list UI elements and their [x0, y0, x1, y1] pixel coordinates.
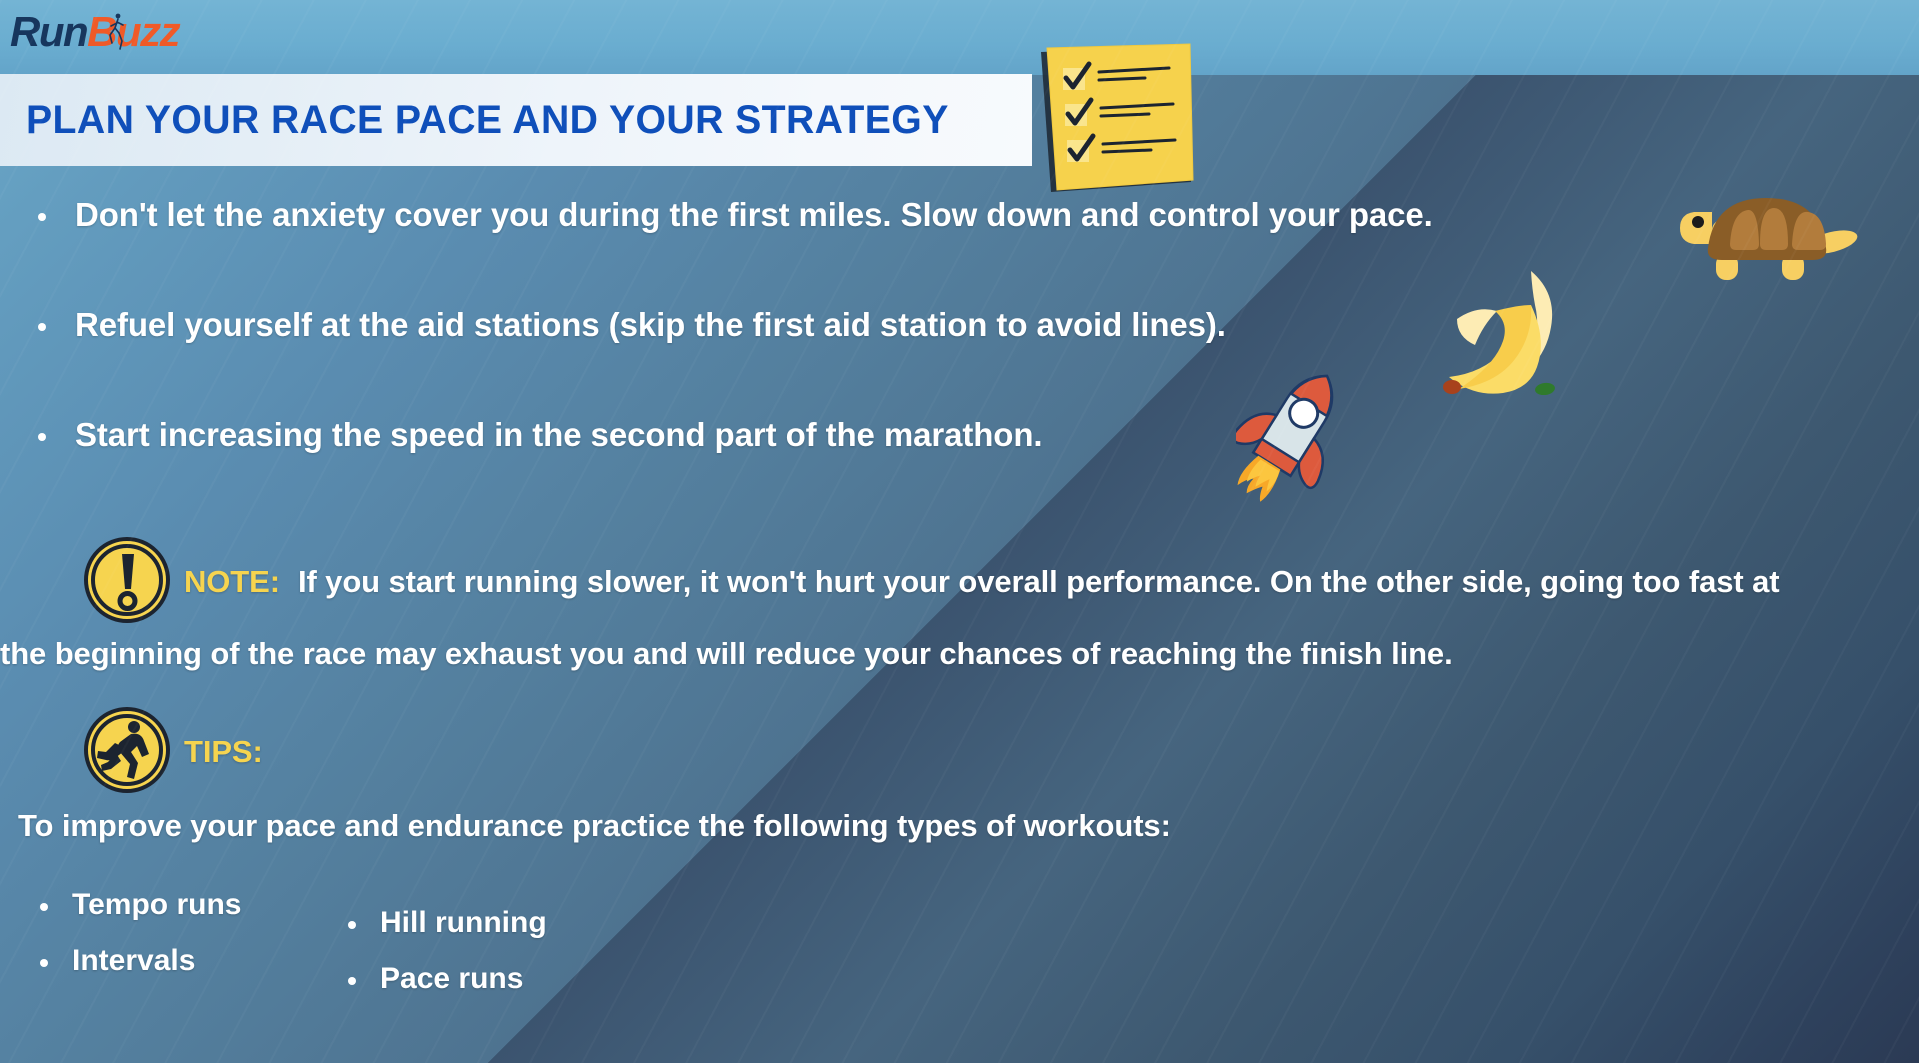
exclamation-circle-icon [84, 537, 170, 623]
page-title-bar: PLAN YOUR RACE PACE AND YOUR STRATEGY [0, 74, 1032, 166]
slide-body: Don't let the anxiety cover you during t… [0, 166, 1919, 1063]
list-item: Tempo runs [0, 888, 320, 922]
tips-label: TIPS: [184, 734, 263, 769]
turtle-icon [1672, 170, 1862, 290]
note-label: NOTE: [184, 564, 280, 599]
list-item: Hill running [320, 906, 720, 940]
workout-column-2: Hill running Pace runs [320, 888, 720, 1018]
header-band: RunBuzz [0, 0, 1919, 75]
runner-mark-icon [106, 10, 128, 54]
runner-circle-icon [84, 707, 170, 793]
list-item: Don't let the anxiety cover you during t… [0, 196, 1750, 234]
list-item: Pace runs [320, 962, 720, 996]
workout-columns: Tempo runs Intervals Hill running Pace r… [0, 888, 900, 1018]
brand-logo-buzz: Buzz [87, 8, 179, 56]
brand-logo[interactable]: RunBuzz [10, 4, 179, 60]
list-item: Start increasing the speed in the second… [0, 416, 1750, 454]
tips-block: TIPS: To improve your pace and endurance… [0, 711, 1800, 852]
sticky-note-checklist-icon [1035, 42, 1197, 194]
list-item: Intervals [0, 944, 320, 978]
page-title: PLAN YOUR RACE PACE AND YOUR STRATEGY [26, 98, 949, 143]
tips-lead-text: To improve your pace and endurance pract… [0, 799, 1800, 852]
rocket-icon [1236, 370, 1386, 520]
banana-icon [1435, 265, 1585, 395]
slide-canvas: RunBuzz PLAN YOUR RACE PACE AND YOUR STR… [0, 0, 1919, 1063]
brand-logo-run: Run [10, 8, 87, 56]
note-block: NOTE:If you start running slower, it won… [0, 541, 1800, 680]
workout-column-1: Tempo runs Intervals [0, 888, 320, 1018]
